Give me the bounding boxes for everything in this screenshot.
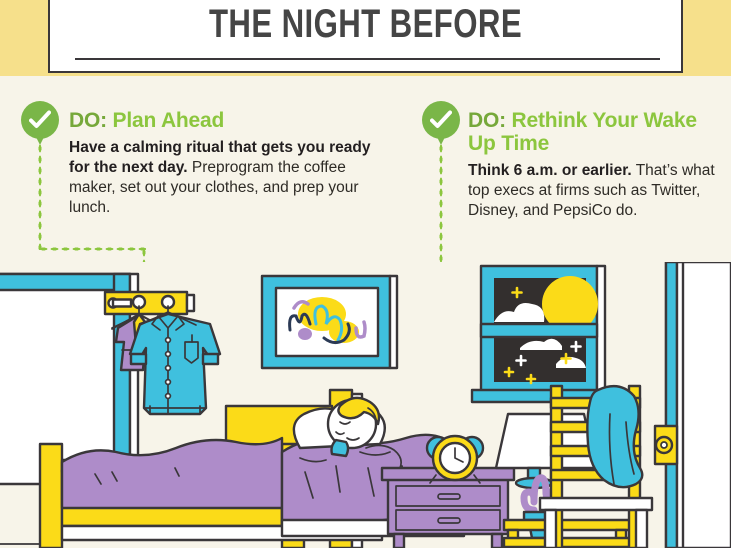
tip-do-label: DO: [468,109,506,132]
door-with-knob [655,262,731,548]
cyan-towel [587,386,642,487]
header-title-box: THE NIGHT BEFORE [48,0,683,73]
tip-connector-vertical [38,143,42,250]
tip-body: Have a calming ritual that gets you read… [69,138,391,218]
wall-rack-with-hangers [105,292,194,314]
tip-heading: DO: Rethink Your Wake Up Time [468,109,718,155]
tip-connector-vertical [439,143,443,279]
header-band: THE NIGHT BEFORE [0,0,731,76]
tip-heading: DO: Plan Ahead [69,109,399,132]
tip-heading-text: Plan Ahead [113,109,225,132]
tip-do-label: DO: [69,109,107,132]
tip-body-lead: Think 6 a.m. or earlier. [468,162,632,179]
page-title: THE NIGHT BEFORE [119,2,611,47]
bedroom-illustration: .ink { stroke:#3A373A; stroke-width:2.4;… [0,262,731,548]
tip-body: Think 6 a.m. or earlier. That’s what top… [468,161,716,221]
header-divider-rule [75,58,660,60]
alarm-clock [427,436,483,483]
check-circle-icon [21,101,59,139]
night-window-with-moon [472,266,612,402]
infographic-page: THE NIGHT BEFORE DO: Plan Ahead Have a c… [0,0,731,548]
framed-abstract-art [262,276,397,368]
check-circle-icon [422,101,460,139]
cyan-button-shirt [130,312,220,414]
tip-connector-horizontal [38,247,146,251]
